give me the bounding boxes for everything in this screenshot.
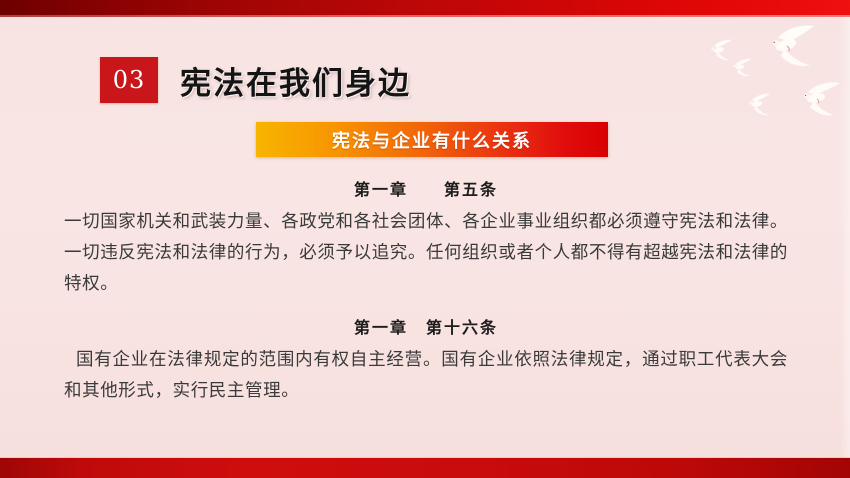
- section-title-row: 03 宪法在我们身边: [100, 57, 411, 103]
- top-bar-hairline: [0, 15, 850, 17]
- topic-banner-label: 宪法与企业有什么关系: [332, 127, 532, 153]
- bottom-red-bar: [0, 458, 850, 478]
- top-red-bar: [0, 0, 850, 15]
- slide-canvas: 03 宪法在我们身边 宪法与企业有什么关系 第一章 第五条 一切国家机关和武装力…: [0, 0, 850, 478]
- dove-icon-small-2: [734, 59, 752, 77]
- section-number-badge: 03: [100, 57, 158, 103]
- article-heading-2: 第一章 第十六条: [64, 314, 788, 338]
- topic-banner: 宪法与企业有什么关系: [256, 122, 608, 157]
- article-block-1: 第一章 第五条 一切国家机关和武装力量、各政党和各社会团体、各企业事业组织都必须…: [64, 176, 788, 300]
- dove-icon-small-3: [749, 94, 770, 115]
- article-body-2: 国有企业在法律规定的范围内有权自主经营。国有企业依照法律规定，通过职工代表大会和…: [64, 345, 788, 407]
- dove-icon-small-1: [711, 40, 732, 60]
- article-heading-1: 第一章 第五条: [64, 176, 788, 200]
- doves-decoration: [690, 18, 850, 128]
- page-title: 宪法在我们身边: [180, 58, 411, 103]
- content-area: 第一章 第五条 一切国家机关和武装力量、各政党和各社会团体、各企业事业组织都必须…: [64, 176, 788, 407]
- article-block-2: 第一章 第十六条 国有企业在法律规定的范围内有权自主经营。国有企业依照法律规定，…: [64, 314, 788, 407]
- right-edge-band: [840, 17, 850, 458]
- dove-icon-large-1: [773, 26, 814, 66]
- dove-icon-large-2: [804, 82, 840, 115]
- article-body-1: 一切国家机关和武装力量、各政党和各社会团体、各企业事业组织都必须遵守宪法和法律。…: [64, 207, 788, 300]
